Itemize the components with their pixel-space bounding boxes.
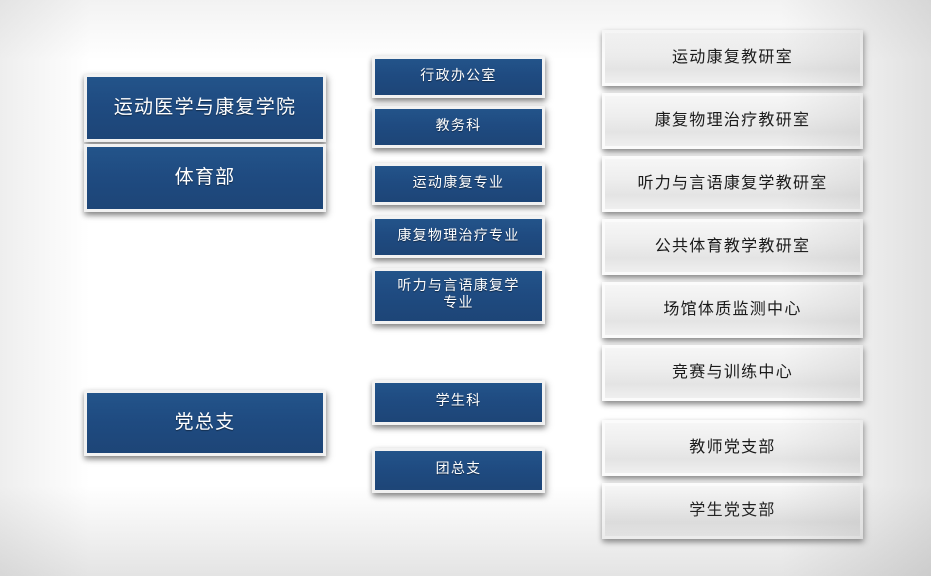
node-student-affairs[interactable]: 学生科 [372, 380, 545, 425]
node-party-branch[interactable]: 党总支 [84, 390, 326, 456]
node-teacher-party-branch-label: 教师党支部 [605, 439, 860, 458]
node-college-label: 运动医学与康复学院 [87, 97, 323, 119]
node-major-sports-rehab[interactable]: 运动康复专业 [372, 163, 545, 205]
node-youth-league[interactable]: 团总支 [372, 448, 545, 493]
node-venue-fitness-center-label: 场馆体质监测中心 [605, 301, 860, 320]
node-competition-center-label: 竞赛与训练中心 [605, 364, 860, 383]
node-major-physio[interactable]: 康复物理治疗专业 [372, 216, 545, 258]
node-academic-affairs-label: 教务科 [375, 119, 542, 136]
node-college[interactable]: 运动医学与康复学院 [84, 74, 326, 142]
node-teaching-sports-rehab[interactable]: 运动康复教研室 [602, 30, 863, 86]
node-student-affairs-label: 学生科 [375, 394, 542, 411]
node-teacher-party-branch[interactable]: 教师党支部 [602, 420, 863, 476]
node-sports-dept[interactable]: 体育部 [84, 144, 326, 212]
node-party-branch-label: 党总支 [87, 412, 323, 434]
node-academic-affairs[interactable]: 教务科 [372, 106, 545, 148]
node-teaching-physio[interactable]: 康复物理治疗教研室 [602, 93, 863, 149]
vignette-left [0, 0, 90, 576]
node-teaching-audiology[interactable]: 听力与言语康复学教研室 [602, 156, 863, 212]
node-teaching-public-pe-label: 公共体育教学教研室 [605, 238, 860, 257]
node-major-audiology-label: 听力与言语康复学 专业 [375, 279, 542, 312]
node-major-physio-label: 康复物理治疗专业 [375, 229, 542, 246]
node-major-audiology[interactable]: 听力与言语康复学 专业 [372, 268, 545, 324]
node-teaching-physio-label: 康复物理治疗教研室 [605, 112, 860, 131]
node-student-party-branch-label: 学生党支部 [605, 502, 860, 521]
node-teaching-public-pe[interactable]: 公共体育教学教研室 [602, 219, 863, 275]
node-admin-office-label: 行政办公室 [375, 69, 542, 86]
node-student-party-branch[interactable]: 学生党支部 [602, 483, 863, 539]
node-competition-center[interactable]: 竞赛与训练中心 [602, 345, 863, 401]
org-chart-canvas: 运动医学与康复学院体育部党总支行政办公室教务科运动康复专业康复物理治疗专业听力与… [0, 0, 931, 576]
node-major-sports-rehab-label: 运动康复专业 [375, 176, 542, 193]
node-venue-fitness-center[interactable]: 场馆体质监测中心 [602, 282, 863, 338]
node-sports-dept-label: 体育部 [87, 167, 323, 189]
node-teaching-sports-rehab-label: 运动康复教研室 [605, 49, 860, 68]
node-youth-league-label: 团总支 [375, 462, 542, 479]
node-admin-office[interactable]: 行政办公室 [372, 56, 545, 98]
node-teaching-audiology-label: 听力与言语康复学教研室 [605, 175, 860, 194]
